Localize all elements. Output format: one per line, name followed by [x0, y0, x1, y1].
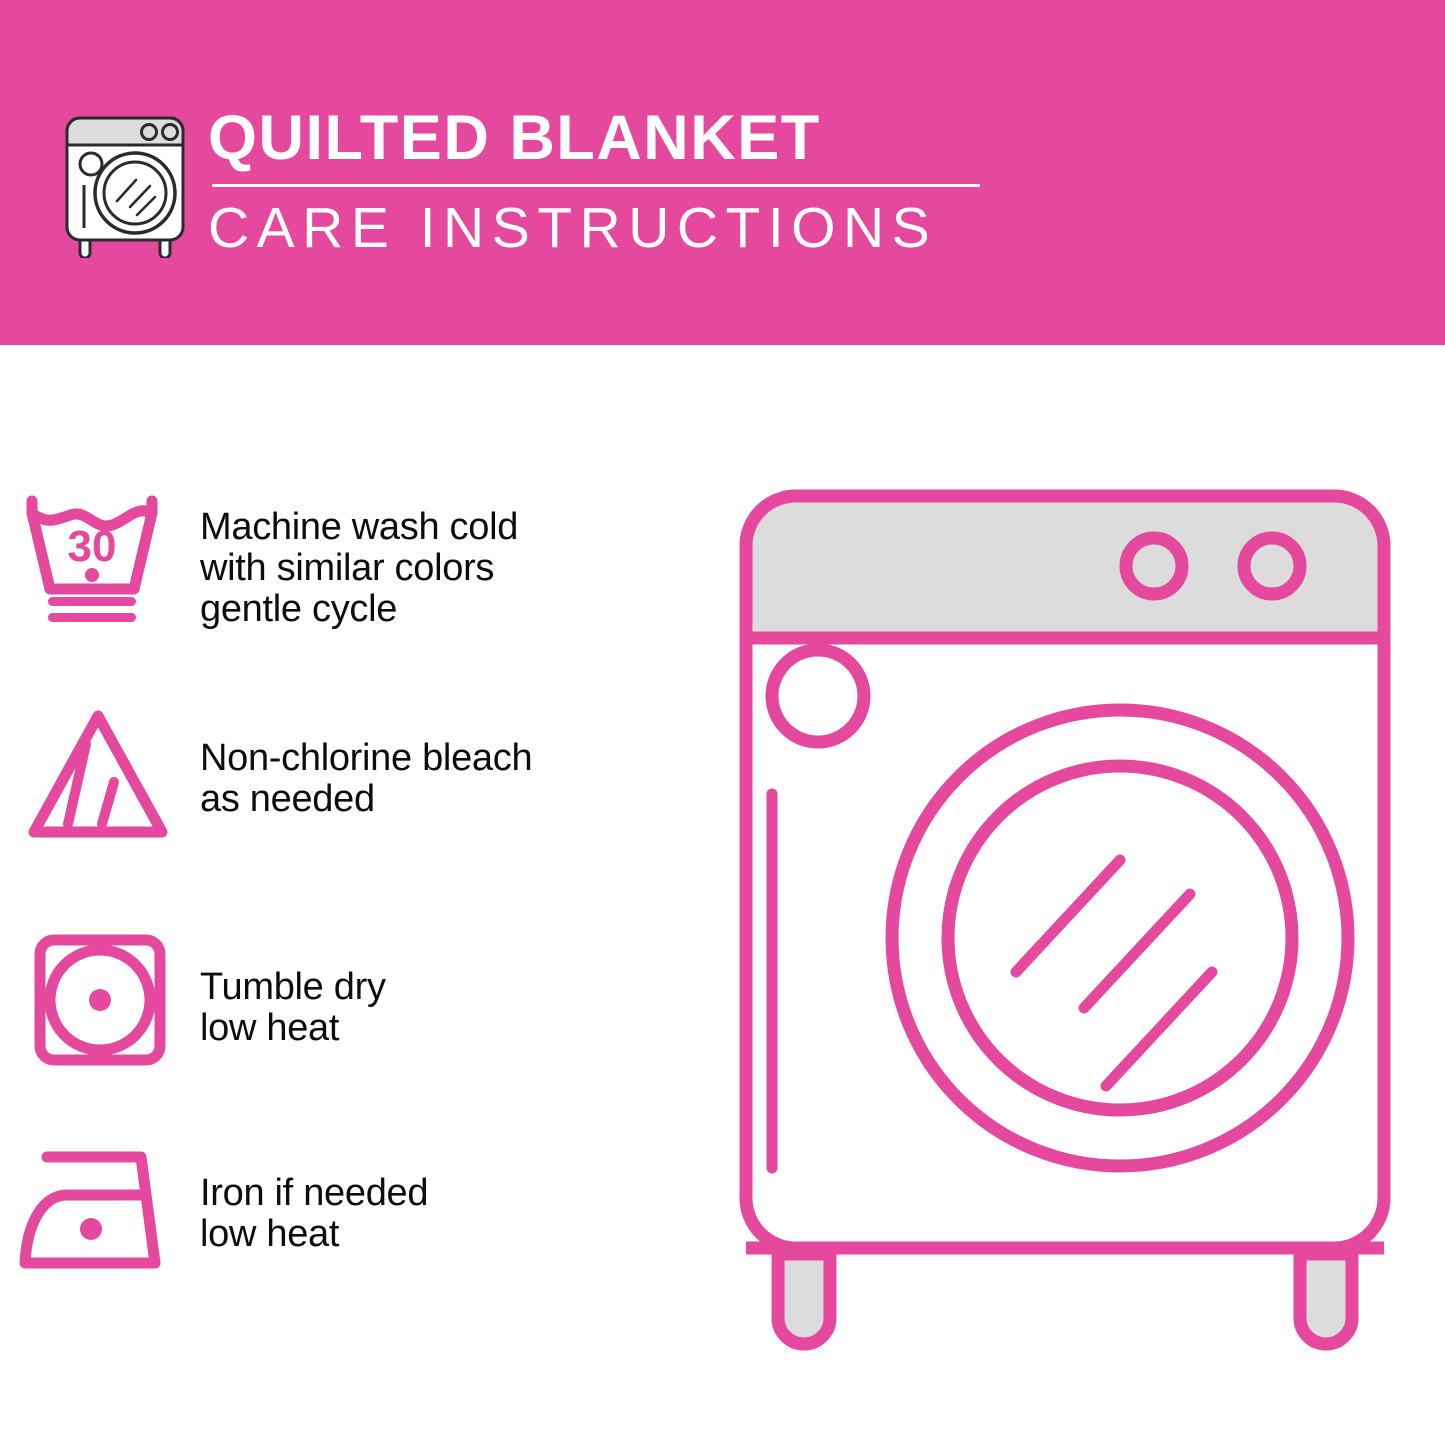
care-text-tumble-dry: Tumble dry low heat — [200, 925, 700, 1049]
care-text-bleach: Non-chlorine bleach as needed — [200, 700, 700, 820]
care-text-line: Non-chlorine bleach — [200, 738, 700, 779]
wash-temperature-label: 30 — [68, 522, 117, 571]
leg-left — [778, 1254, 830, 1344]
care-row-bleach: Non-chlorine bleach as needed — [0, 700, 700, 850]
care-text-line: low heat — [200, 1008, 700, 1049]
care-text-iron: Iron if needed low heat — [200, 1135, 700, 1255]
care-row-iron: Iron if needed low heat — [0, 1135, 700, 1285]
non-chlorine-bleach-triangle-icon — [0, 700, 200, 850]
iron-low-heat-icon — [0, 1135, 200, 1285]
care-text-line: Machine wash cold — [200, 507, 700, 548]
care-text-machine-wash: Machine wash cold with similar colors ge… — [200, 485, 700, 630]
care-instruction-list: 30 Machine wash cold with similar colors… — [0, 345, 700, 1445]
front-load-washing-machine-illustration — [720, 478, 1410, 1378]
washing-machine-icon — [60, 103, 190, 258]
care-text-line: Tumble dry — [200, 967, 700, 1008]
page-title: QUILTED BLANKET — [208, 100, 998, 176]
care-text-line: Iron if needed — [200, 1173, 700, 1214]
care-row-machine-wash: 30 Machine wash cold with similar colors… — [0, 485, 700, 635]
wash-tub-30-gentle-icon: 30 — [0, 485, 200, 635]
header-title-block: QUILTED BLANKET CARE INSTRUCTIONS — [208, 100, 998, 263]
title-divider — [212, 184, 980, 187]
leg-right — [1300, 1254, 1352, 1344]
page-subtitle: CARE INSTRUCTIONS — [208, 193, 998, 263]
care-text-line: low heat — [200, 1214, 700, 1255]
control-panel — [746, 496, 1384, 638]
header-banner: QUILTED BLANKET CARE INSTRUCTIONS — [0, 0, 1445, 345]
care-text-line: gentle cycle — [200, 589, 700, 630]
care-text-line: as needed — [200, 779, 700, 820]
care-row-tumble-dry: Tumble dry low heat — [0, 925, 700, 1075]
tumble-dry-low-heat-icon — [0, 925, 200, 1075]
care-text-line: with similar colors — [200, 548, 700, 589]
